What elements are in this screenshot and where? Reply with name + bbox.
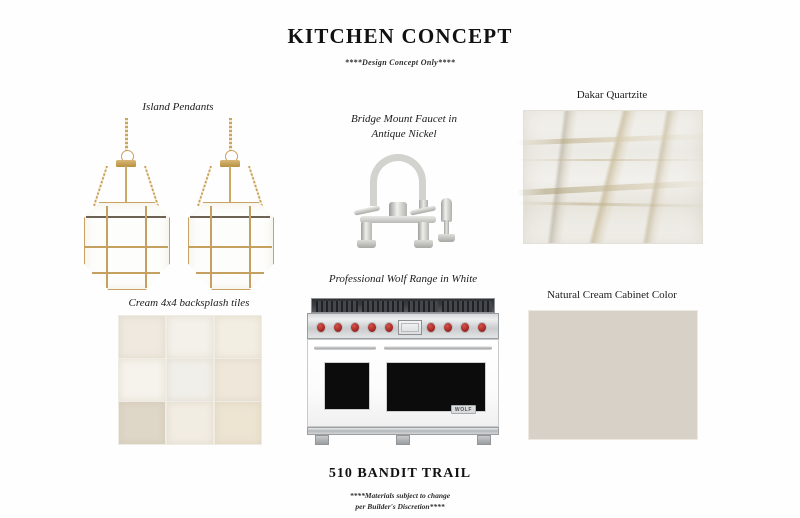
pendant-lantern-left (78, 118, 174, 288)
island-pendants-image (78, 118, 278, 288)
tile-swatch (215, 316, 261, 358)
pendant-frame-line (188, 246, 272, 248)
dakar-quartzite-slab (523, 110, 703, 244)
caption-wolf-range: Professional Wolf Range in White (298, 272, 508, 287)
pendant-chain-left-icon (93, 166, 108, 207)
design-board: KITCHEN CONCEPT ****Design Concept Only*… (0, 0, 800, 518)
faucet-base-left (357, 240, 376, 248)
pendant-lantern-body (188, 202, 272, 288)
cooktop-grate (442, 301, 492, 312)
tile-swatch (119, 359, 165, 401)
tile-swatch (167, 359, 213, 401)
pendant-chain-right-icon (144, 166, 159, 207)
range-knob[interactable] (477, 322, 487, 333)
pendant-frame-line (249, 206, 251, 288)
pendant-frame-line (92, 272, 160, 274)
caption-bridge-faucet-line2: Antique Nickel (318, 127, 490, 142)
pendant-frame-line (190, 216, 270, 218)
range-knob[interactable] (316, 322, 326, 333)
quartzite-vein (517, 159, 709, 161)
footer-address: 510 BANDIT TRAIL (0, 466, 800, 482)
oven-handle-right[interactable] (384, 346, 492, 350)
cabinet-color-swatch (528, 310, 698, 440)
range-control-panel (307, 313, 499, 339)
cooktop-griddle (408, 301, 438, 312)
pendant-rod-icon (125, 166, 128, 204)
caption-cabinet-color: Natural Cream Cabinet Color (528, 288, 696, 303)
pendant-frame-line (210, 206, 212, 288)
tile-swatch (215, 402, 261, 444)
pendant-rod-icon (229, 166, 232, 204)
page-title: KITCHEN CONCEPT (0, 24, 800, 49)
footer-disclaimer: ****Materials subject to change per Buil… (0, 490, 800, 512)
faucet-column-left (361, 222, 372, 242)
cooktop-grate (316, 301, 358, 312)
range-knob[interactable] (426, 322, 436, 333)
caption-island-pendants: Island Pendants (78, 100, 278, 115)
range-knob[interactable] (384, 322, 394, 333)
pendant-frame-line (84, 246, 168, 248)
wolf-range-image: WOLF (303, 298, 503, 446)
tile-swatch (167, 316, 213, 358)
tile-swatch (119, 402, 165, 444)
footer-disclaimer-line1: ****Materials subject to change (0, 490, 800, 501)
range-leg (396, 435, 410, 445)
oven-door-left[interactable] (324, 362, 370, 410)
quartzite-vein (517, 202, 709, 208)
footer-disclaimer-line2: per Builder's Discretion**** (0, 501, 800, 512)
faucet-handle-left (354, 205, 380, 215)
caption-backsplash-tiles: Cream 4x4 backsplash tiles (98, 296, 280, 311)
oven-handle-left[interactable] (314, 346, 376, 350)
faucet-side-sprayer-head (441, 198, 452, 222)
pendant-frame-line (145, 206, 147, 288)
pendant-frame-line (196, 272, 264, 274)
range-kickplate (307, 427, 499, 435)
backsplash-tile-sample (118, 315, 262, 445)
range-cooktop (311, 298, 495, 313)
range-knob[interactable] (350, 322, 360, 333)
range-knob[interactable] (367, 322, 377, 333)
pendant-lantern-body (84, 202, 168, 288)
range-knob[interactable] (443, 322, 453, 333)
faucet-base-right (414, 240, 433, 248)
faucet-handle-right (410, 205, 436, 215)
quartzite-vein (517, 134, 709, 146)
tile-swatch (119, 316, 165, 358)
page-subtitle: ****Design Concept Only**** (0, 58, 800, 67)
pendant-chain-right-icon (248, 166, 263, 207)
range-knob[interactable] (460, 322, 470, 333)
range-leg (477, 435, 491, 445)
cooktop-grate (362, 301, 404, 312)
wolf-brand-badge: WOLF (451, 405, 476, 414)
tile-swatch (167, 402, 213, 444)
range-body: WOLF (307, 339, 499, 427)
range-knob[interactable] (333, 322, 343, 333)
faucet-column-right (418, 222, 429, 242)
faucet-side-sprayer-base (438, 234, 455, 242)
range-display-panel[interactable] (398, 320, 422, 335)
caption-bridge-faucet-line1: Bridge Mount Faucet in (318, 112, 490, 127)
pendant-lantern-right (182, 118, 278, 288)
faucet-gooseneck-spout (370, 154, 426, 206)
bridge-faucet-image (348, 150, 458, 262)
pendant-frame-line (86, 216, 166, 218)
caption-dakar-quartzite: Dakar Quartzite (523, 88, 701, 103)
range-leg (315, 435, 329, 445)
pendant-cord-icon (125, 118, 128, 152)
pendant-cord-icon (229, 118, 232, 152)
tile-swatch (215, 359, 261, 401)
pendant-frame-line (106, 206, 108, 288)
quartzite-vein (517, 180, 709, 196)
pendant-chain-left-icon (197, 166, 212, 207)
